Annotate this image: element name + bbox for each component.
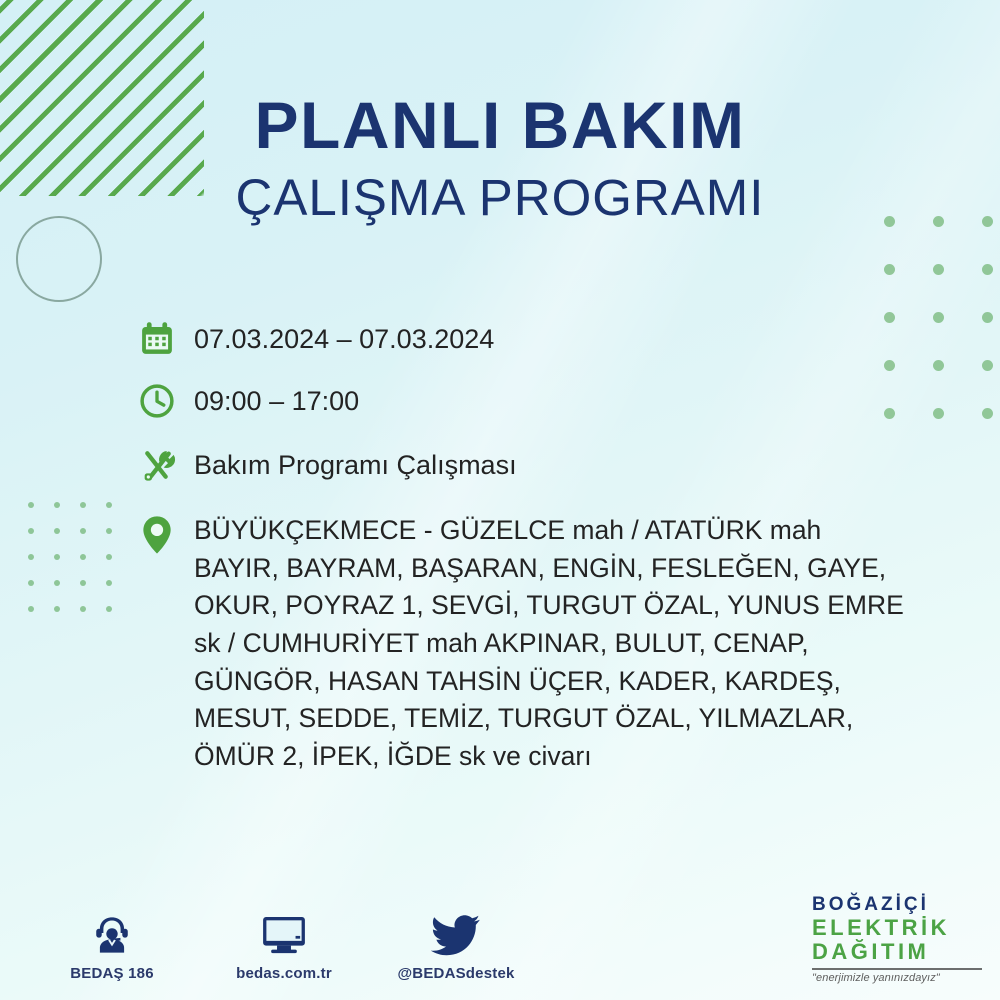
calendar-icon xyxy=(138,318,194,358)
detail-row-work-type: Bakım Programı Çalışması xyxy=(138,444,898,486)
date-range-value: 07.03.2024 – 07.03.2024 xyxy=(194,318,494,357)
footer-contacts: BEDAŞ 186 bedas.com.tr @BEDASdestek xyxy=(46,903,522,982)
monitor-icon xyxy=(218,903,350,957)
bedas-logo: BOĞAZİÇİ ELEKTRİK DAĞITIM "enerjimizle y… xyxy=(812,894,982,984)
twitter-bird-icon xyxy=(390,903,522,957)
brand-tagline: "enerjimizle yanınızdayız" xyxy=(812,972,982,984)
page-title: PLANLI BAKIM xyxy=(0,92,1000,158)
time-range-value: 09:00 – 17:00 xyxy=(194,380,359,419)
dot-grid-left-decoration xyxy=(18,492,122,622)
brand-line-elektrik: ELEKTRİK xyxy=(812,916,982,941)
tools-icon xyxy=(138,444,194,486)
brand-line-bogazici: BOĞAZİÇİ xyxy=(812,894,982,915)
circle-outline-decoration xyxy=(16,216,102,302)
headset-support-icon xyxy=(46,903,178,957)
clock-icon xyxy=(138,380,194,420)
footer-item-call-center[interactable]: BEDAŞ 186 xyxy=(46,903,178,982)
poster-header: PLANLI BAKIM ÇALIŞMA PROGRAMI xyxy=(0,92,1000,223)
detail-row-time: 09:00 – 17:00 xyxy=(138,380,898,420)
poster-canvas: PLANLI BAKIM ÇALIŞMA PROGRAMI xyxy=(0,0,1000,1000)
location-line: MESUT, SEDDE, TEMİZ, TURGUT ÖZAL, YILMAZ… xyxy=(194,700,904,738)
location-value: BÜYÜKÇEKMECE - GÜZELCE mah / ATATÜRK mah… xyxy=(194,512,904,775)
footer-item-twitter[interactable]: @BEDASdestek xyxy=(390,903,522,982)
footer-label-twitter: @BEDASdestek xyxy=(390,965,522,982)
location-line: OKUR, POYRAZ 1, SEVGİ, TURGUT ÖZAL, YUNU… xyxy=(194,587,904,625)
location-line: BAYIR, BAYRAM, BAŞARAN, ENGİN, FESLEĞEN,… xyxy=(194,550,904,588)
location-pin-icon xyxy=(138,512,194,556)
brand-line-dagitim: DAĞITIM xyxy=(812,940,982,965)
location-line: GÜNGÖR, HASAN TAHSİN ÜÇER, KADER, KARDEŞ… xyxy=(194,663,904,701)
work-type-value: Bakım Programı Çalışması xyxy=(194,444,517,483)
location-line: sk / CUMHURİYET mah AKPINAR, BULUT, CENA… xyxy=(194,625,904,663)
footer-item-website[interactable]: bedas.com.tr xyxy=(218,903,350,982)
detail-row-date: 07.03.2024 – 07.03.2024 xyxy=(138,318,898,358)
outage-details: 07.03.2024 – 07.03.2024 09:00 – 17:00 xyxy=(138,318,898,793)
location-line: ÖMÜR 2, İPEK, İĞDE sk ve civarı xyxy=(194,738,904,776)
location-line: BÜYÜKÇEKMECE - GÜZELCE mah / ATATÜRK mah xyxy=(194,512,904,550)
detail-row-location: BÜYÜKÇEKMECE - GÜZELCE mah / ATATÜRK mah… xyxy=(138,512,898,775)
brand-divider xyxy=(812,968,982,970)
footer-label-website: bedas.com.tr xyxy=(218,965,350,982)
page-subtitle: ÇALIŞMA PROGRAMI xyxy=(0,172,1000,223)
footer-label-call-center: BEDAŞ 186 xyxy=(46,965,178,982)
